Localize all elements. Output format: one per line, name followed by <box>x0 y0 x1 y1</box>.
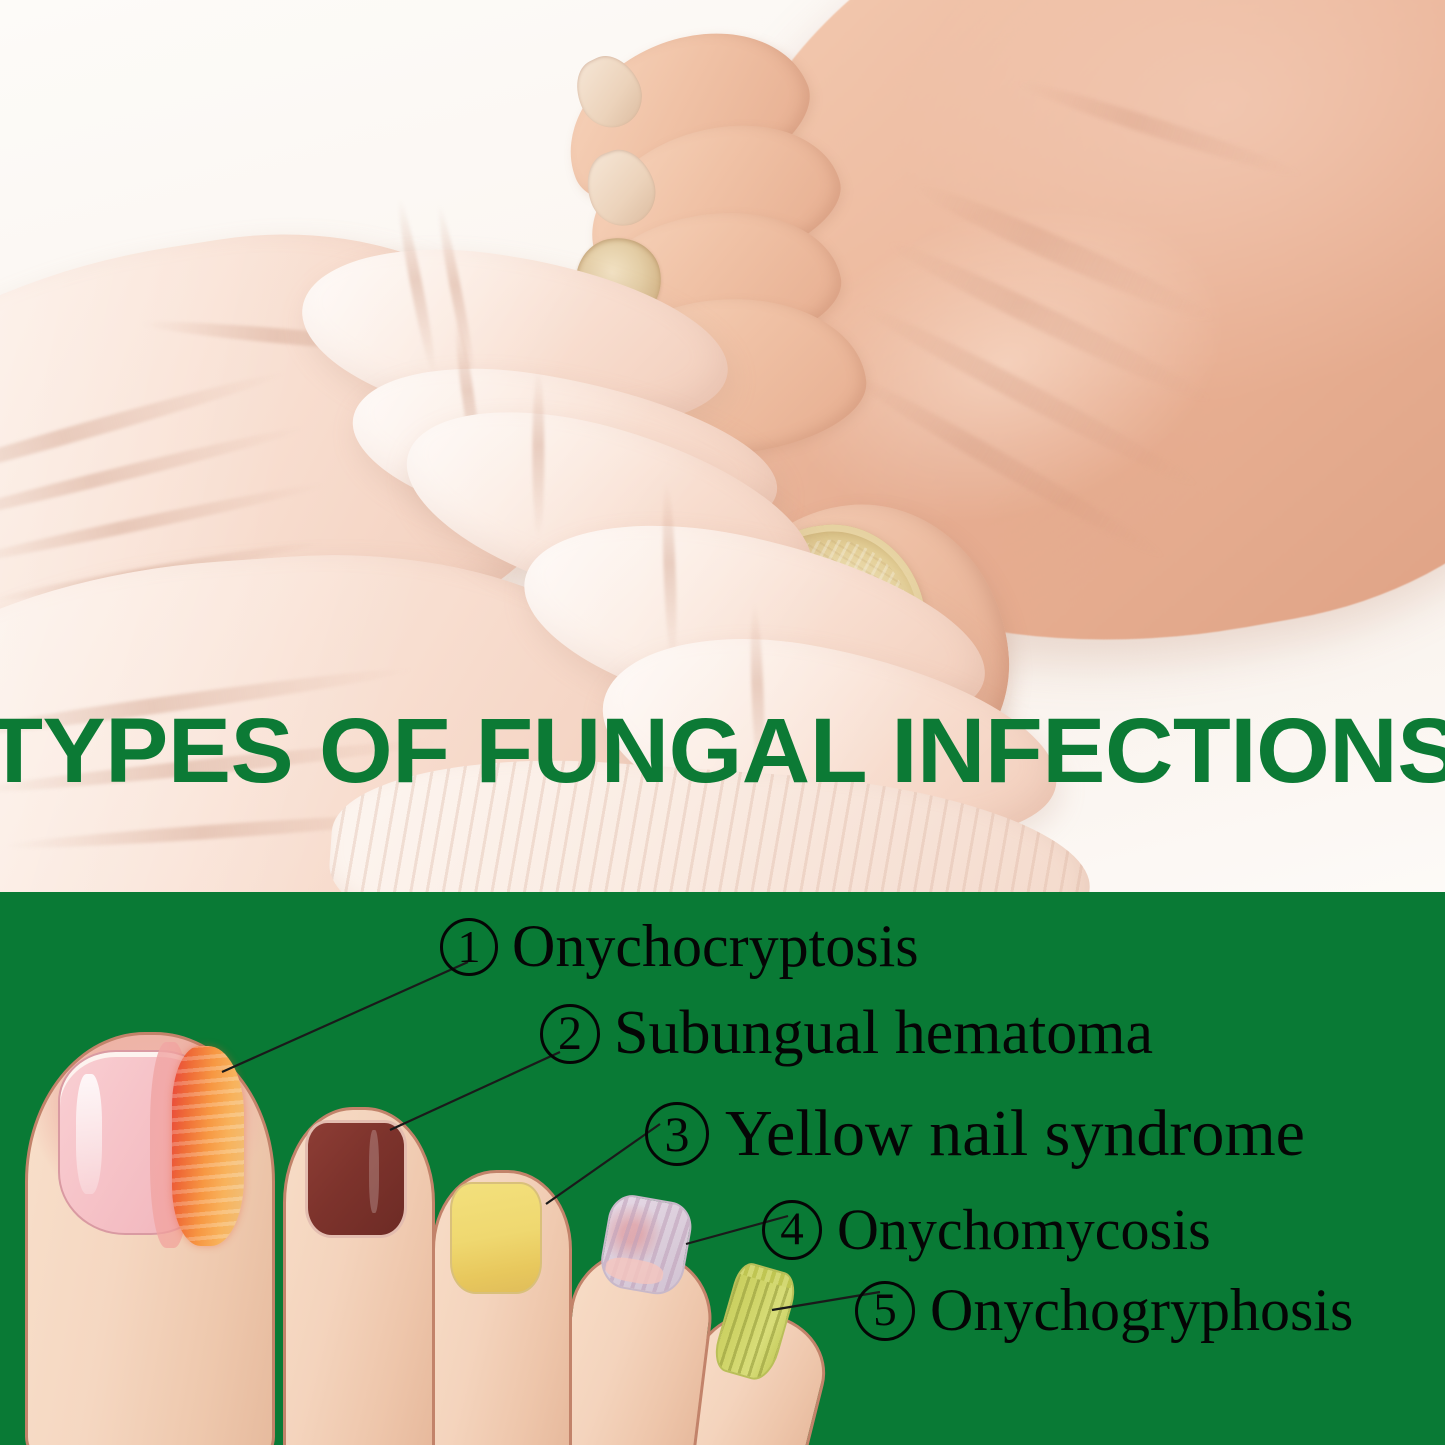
badge-number-3: 3 <box>645 1102 709 1166</box>
list-item-4[interactable]: 4 Onychomycosis <box>762 1196 1211 1263</box>
condition-label-5: Onychogryphosis <box>930 1276 1353 1345</box>
badge-number-4: 4 <box>762 1200 822 1260</box>
list-item-2[interactable]: 2 Subungual hematoma <box>540 998 1153 1069</box>
badge-number-5: 5 <box>855 1281 915 1341</box>
condition-label-4: Onychomycosis <box>837 1196 1211 1263</box>
list-item-5[interactable]: 5 Onychogryphosis <box>855 1276 1353 1345</box>
page-title: TYPES OF FUNGAL INFECTIONS <box>0 706 1445 796</box>
badge-number-2: 2 <box>540 1004 600 1064</box>
condition-label-1: Onychocryptosis <box>512 912 919 981</box>
badge-number-1: 1 <box>440 918 498 976</box>
condition-label-2: Subungual hematoma <box>614 998 1153 1069</box>
list-item-1[interactable]: 1 Onychocryptosis <box>440 912 919 981</box>
condition-label-3: Yellow nail syndrome <box>725 1096 1305 1172</box>
infographic-poster: TYPES OF FUNGAL INFECTIONS <box>0 0 1445 1445</box>
list-item-3[interactable]: 3 Yellow nail syndrome <box>645 1096 1305 1172</box>
